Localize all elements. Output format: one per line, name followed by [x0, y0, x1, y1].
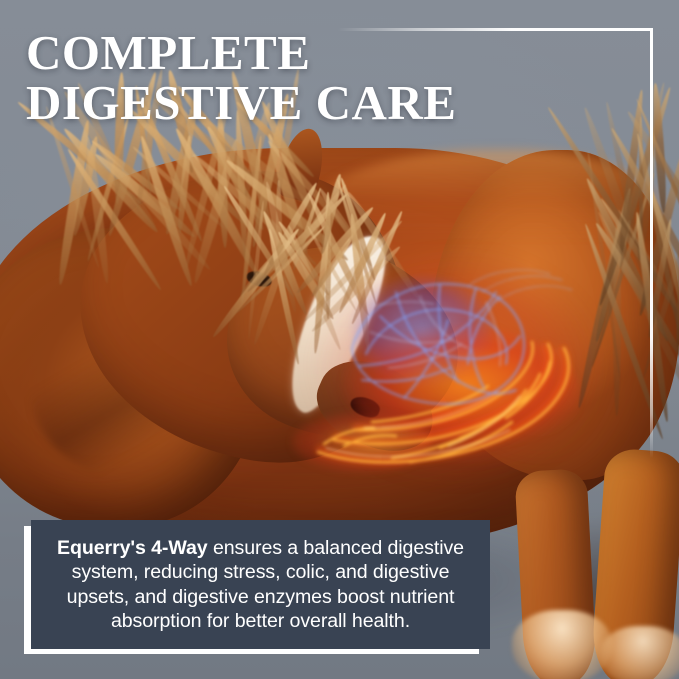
caption-brand: Equerry's 4-Way — [57, 537, 208, 559]
ad-creative: COMPLETE DIGESTIVE CARE Equerry's 4-Way … — [0, 0, 679, 679]
horse-fetlock-feathering-right — [600, 626, 679, 679]
headline-line-1: COMPLETE — [26, 29, 456, 77]
caption-box: Equerry's 4-Way ensures a balanced diges… — [31, 520, 490, 649]
digestive-tract-overlay — [300, 262, 600, 482]
headline-line-2: DIGESTIVE CARE — [26, 79, 456, 127]
caption-text: Equerry's 4-Way ensures a balanced diges… — [31, 536, 490, 633]
horse-fetlock-feathering-left — [512, 610, 612, 679]
headline: COMPLETE DIGESTIVE CARE — [26, 29, 456, 127]
corner-bracket-vertical-line — [650, 28, 653, 458]
digestive-tract-lines — [300, 262, 600, 482]
